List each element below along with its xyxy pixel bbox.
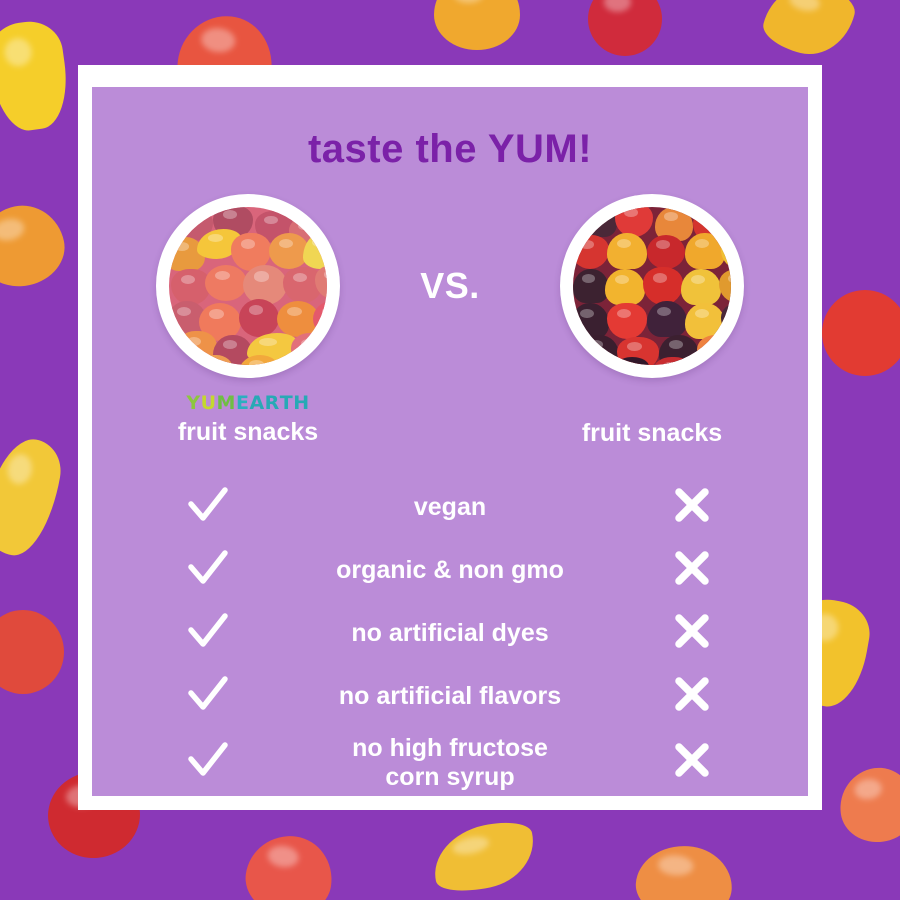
banana-gummy — [0, 433, 66, 561]
peach-gummy — [0, 198, 71, 294]
yumearth-product-label: fruit snacks — [106, 420, 390, 445]
logo-letter: R — [265, 394, 280, 413]
check-icon — [185, 671, 231, 722]
logo-letter: H — [293, 394, 309, 413]
banana-gummy — [427, 816, 542, 898]
gummy-piece — [607, 303, 647, 339]
feature-label: organic & non gmo — [268, 556, 632, 585]
comparison-left-column: YUMEARTH fruit snacks — [106, 194, 390, 445]
cross-icon — [672, 611, 712, 656]
cross-icon — [672, 674, 712, 719]
gummy-piece — [647, 235, 685, 269]
yumearth-check-icon — [148, 545, 268, 596]
other-brand-cross-icon — [632, 611, 752, 656]
raspberry-gummy — [0, 610, 64, 694]
check-icon — [185, 545, 231, 596]
gummy-piece — [647, 301, 687, 337]
feature-label: vegan — [268, 493, 632, 522]
gummy-piece — [573, 269, 609, 303]
feature-label-line: corn syrup — [268, 763, 632, 792]
check-icon — [185, 608, 231, 659]
other-brand-bowl-contents — [573, 207, 731, 365]
yumearth-check-icon — [148, 737, 268, 788]
comparison-right-column: fruit snacks — [510, 194, 794, 448]
yumearth-check-icon — [148, 671, 268, 722]
gummy-piece — [685, 303, 725, 339]
page-title: taste the YUM! — [92, 127, 808, 172]
gummy-piece — [643, 267, 683, 305]
other-brand-cross-icon — [632, 674, 752, 719]
logo-letter: Y — [186, 394, 200, 413]
feature-label: no artificial dyes — [268, 619, 632, 648]
other-brand-cross-icon — [632, 548, 752, 593]
feature-label: no high fructosecorn syrup — [268, 734, 632, 792]
logo-letter: T — [280, 394, 293, 413]
cross-icon — [672, 485, 712, 530]
gummy-piece — [721, 235, 731, 269]
vs-separator: VS. — [390, 194, 510, 378]
gummy-piece — [681, 269, 721, 305]
gummy-piece — [607, 233, 647, 269]
logo-letter: E — [236, 394, 249, 413]
feature-row: organic & non gmo — [148, 545, 752, 596]
check-icon — [185, 482, 231, 533]
gummy-piece — [605, 269, 645, 305]
cross-icon — [672, 740, 712, 785]
yumearth-brand-block: YUMEARTH fruit snacks — [106, 394, 390, 445]
other-brand-cross-icon — [632, 740, 752, 785]
raspberry-gummy — [822, 290, 900, 376]
content-panel: taste the YUM! YUMEARTH fruit snacks VS. — [92, 87, 808, 796]
logo-letter: M — [217, 394, 236, 413]
cross-icon — [672, 548, 712, 593]
gummy-piece — [205, 265, 247, 301]
feature-row: no high fructosecorn syrup — [148, 734, 752, 792]
yumearth-check-icon — [148, 608, 268, 659]
feature-comparison-table: veganorganic & non gmono artificial dyes… — [92, 482, 808, 792]
gummy-piece — [685, 233, 725, 269]
check-icon — [185, 737, 231, 788]
peach-gummy — [241, 830, 337, 900]
gummy-piece — [313, 301, 327, 337]
feature-label-line: no high fructose — [268, 734, 632, 763]
pineapple-gummy — [0, 17, 73, 134]
vs-label: VS. — [420, 265, 480, 307]
feature-label: no artificial flavors — [268, 682, 632, 711]
other-brand-product-label: fruit snacks — [510, 419, 794, 448]
gummy-piece — [579, 335, 619, 365]
peach-gummy — [835, 763, 900, 847]
other-brand-bowl — [560, 194, 744, 378]
feature-row: vegan — [148, 482, 752, 533]
feature-row: no artificial dyes — [148, 608, 752, 659]
cherry-gummy — [588, 0, 662, 56]
gummy-piece — [239, 299, 279, 337]
feature-row: no artificial flavors — [148, 671, 752, 722]
gummy-piece — [573, 235, 609, 269]
gummy-piece — [719, 269, 731, 303]
yumearth-logo: YUMEARTH — [106, 394, 390, 413]
peach-gummy — [634, 843, 735, 900]
gummy-piece — [615, 207, 653, 237]
mango-gummy — [759, 0, 859, 63]
apple-gummy — [434, 0, 520, 50]
yumearth-bowl — [156, 194, 340, 378]
logo-letter: U — [201, 394, 217, 413]
white-frame-border: taste the YUM! YUMEARTH fruit snacks VS. — [78, 65, 822, 810]
gummy-piece — [573, 303, 609, 339]
yumearth-bowl-contents — [169, 207, 327, 365]
product-comparison-hero: YUMEARTH fruit snacks VS. fruit snacks — [92, 194, 808, 448]
logo-letter: A — [249, 394, 264, 413]
gummy-piece — [581, 207, 617, 237]
other-brand-cross-icon — [632, 485, 752, 530]
yumearth-check-icon — [148, 482, 268, 533]
